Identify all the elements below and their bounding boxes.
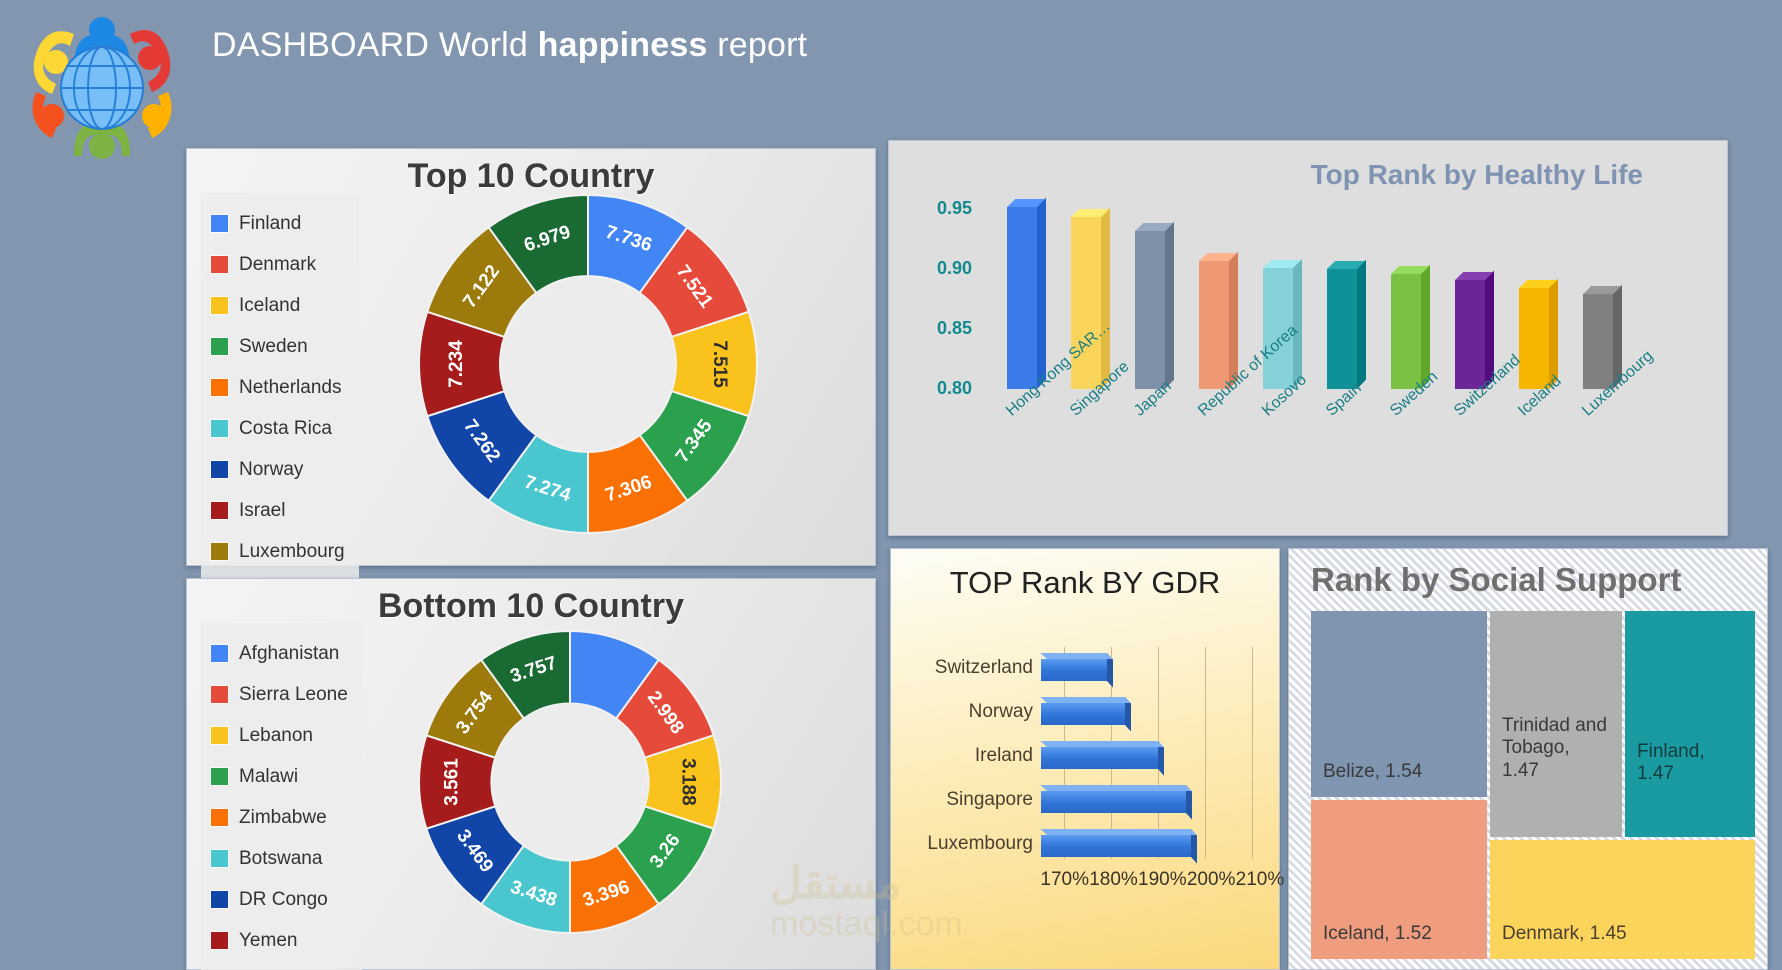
treemap-tile-label: Trinidad and Tobago, 1.47 — [1502, 715, 1610, 782]
donut-slice-label: 3.561 — [442, 758, 463, 806]
gdr-category-label: Norway — [969, 701, 1033, 723]
gdr-panel: TOP Rank BY GDR 170%180%190%200%210%Swit… — [890, 548, 1280, 970]
legend-swatch-icon — [211, 502, 228, 519]
legend-label: Sierra Leone — [239, 684, 348, 706]
legend-item[interactable]: Luxembourg — [211, 531, 345, 572]
legend-item[interactable]: Yemen — [211, 920, 348, 961]
gdr-category-label: Luxembourg — [927, 833, 1033, 855]
legend-item[interactable]: Israel — [211, 490, 345, 531]
bar-face — [1519, 288, 1549, 389]
legend-label: Norway — [239, 459, 303, 481]
social-support-title: Rank by Social Support — [1311, 561, 1681, 599]
healthy-bar[interactable] — [1583, 294, 1613, 389]
legend-label: Afghanistan — [239, 643, 339, 665]
treemap-tile[interactable]: Iceland, 1.52 — [1311, 800, 1487, 959]
bar-side-facet — [1037, 197, 1046, 389]
legend-swatch-icon — [211, 379, 228, 396]
bottom10-title: Bottom 10 Country — [187, 587, 875, 626]
bottom10-country-panel: Bottom 10 Country AfghanistanSierra Leon… — [186, 578, 876, 970]
legend-swatch-icon — [211, 891, 228, 908]
legend-swatch-icon — [211, 727, 228, 744]
dashboard-canvas: DASHBOARD World happiness report Top 10 … — [0, 0, 1782, 970]
legend-label: Israel — [239, 500, 285, 522]
gdr-category-label: Switzerland — [935, 657, 1033, 679]
legend-item[interactable]: Norway — [211, 449, 345, 490]
bar-face — [1199, 261, 1229, 389]
legend-swatch-icon — [211, 932, 228, 949]
legend-label: Sweden — [239, 336, 308, 358]
gdr-gridline — [1205, 647, 1206, 859]
bar-top-facet — [1040, 697, 1131, 703]
top10-legend: FinlandDenmarkIcelandSwedenNetherlandsCo… — [201, 193, 359, 582]
legend-item[interactable]: Finland — [211, 203, 345, 244]
bar-face — [1041, 703, 1125, 725]
gdr-bar[interactable] — [1041, 785, 1186, 813]
legend-label: Netherlands — [239, 377, 341, 399]
healthy-life-title: Top Rank by Healthy Life — [1311, 159, 1643, 191]
healthy-bar[interactable] — [1455, 280, 1485, 389]
bar-top-facet — [1040, 829, 1196, 835]
legend-swatch-icon — [211, 768, 228, 785]
legend-label: Lebanon — [239, 725, 313, 747]
legend-swatch-icon — [211, 256, 228, 273]
gdr-x-axis-label: 170% — [1040, 869, 1089, 891]
y-axis-tick-label: 0.80 — [937, 378, 972, 399]
bar-face — [1041, 747, 1158, 769]
gdr-bar[interactable] — [1041, 829, 1191, 857]
top10-donut-chart[interactable]: 7.7367.5217.5157.3457.3067.2747.2627.234… — [419, 195, 757, 533]
y-axis-tick-label: 0.90 — [937, 258, 972, 279]
bar-face — [1391, 274, 1421, 389]
bar-face — [1041, 791, 1186, 813]
treemap-tile-label: Denmark, 1.45 — [1502, 923, 1627, 945]
bar-top-facet — [1040, 785, 1192, 791]
legend-swatch-icon — [211, 338, 228, 355]
gdr-x-axis-label: 210% — [1236, 869, 1285, 891]
healthy-bar[interactable] — [1135, 231, 1165, 389]
legend-item[interactable]: DR Congo — [211, 879, 348, 920]
legend-item[interactable]: Netherlands — [211, 367, 345, 408]
legend-label: Finland — [239, 213, 301, 235]
legend-swatch-icon — [211, 645, 228, 662]
social-support-treemap[interactable]: Belize, 1.54Iceland, 1.52Trinidad and To… — [1311, 611, 1755, 959]
treemap-tile[interactable]: Trinidad and Tobago, 1.47 — [1490, 611, 1622, 837]
donut-slice-label: 7.515 — [709, 340, 730, 388]
healthy-life-panel: Top Rank by Healthy Life 0.950.900.850.8… — [888, 140, 1728, 536]
treemap-tile[interactable]: Finland, 1.47 — [1625, 611, 1755, 837]
donut-hub — [492, 704, 647, 859]
legend-item[interactable]: Denmark — [211, 244, 345, 285]
donut-slice-label: 3.188 — [677, 758, 698, 806]
healthy-bar[interactable] — [1327, 269, 1357, 389]
legend-label: Luxembourg — [239, 541, 345, 563]
page-title: DASHBOARD World happiness report — [212, 26, 807, 65]
bar-face — [1135, 231, 1165, 389]
healthy-bar[interactable] — [1007, 207, 1037, 389]
bottom10-donut-chart[interactable]: 2.9983.1883.263.3963.4383.4693.5613.7543… — [419, 631, 721, 933]
treemap-tile-label: Belize, 1.54 — [1323, 761, 1422, 783]
healthy-bar[interactable] — [1391, 274, 1421, 389]
legend-label: Yemen — [239, 930, 297, 952]
bar-side-facet — [1357, 260, 1366, 389]
treemap-tile-label: Iceland, 1.52 — [1323, 923, 1432, 945]
legend-item[interactable]: Zimbabwe — [211, 797, 348, 838]
bar-face — [1327, 269, 1357, 389]
legend-item[interactable]: Botswana — [211, 838, 348, 879]
legend-item[interactable]: Afghanistan — [211, 633, 348, 674]
gdr-category-label: Ireland — [975, 745, 1033, 767]
bar-side-facet — [1101, 208, 1110, 389]
gdr-category-label: Singapore — [946, 789, 1033, 811]
legend-label: Costa Rica — [239, 418, 332, 440]
gdr-bar[interactable] — [1041, 741, 1158, 769]
bar-top-facet — [1040, 653, 1112, 659]
donut-hub — [501, 277, 675, 451]
world-happiness-globe-logo — [22, 6, 182, 166]
legend-label: Botswana — [239, 848, 322, 870]
bar-face — [1455, 280, 1485, 389]
treemap-tile[interactable]: Belize, 1.54 — [1311, 611, 1487, 797]
y-axis-tick-label: 0.85 — [937, 318, 972, 339]
legend-item[interactable]: Costa Rica — [211, 408, 345, 449]
legend-swatch-icon — [211, 543, 228, 560]
y-axis-tick-label: 0.95 — [937, 198, 972, 219]
legend-item[interactable]: Lebanon — [211, 715, 348, 756]
legend-label: Iceland — [239, 295, 300, 317]
gdr-gridline — [1252, 647, 1253, 859]
page-title-part1: DASHBOARD World — [212, 26, 538, 64]
healthy-bar[interactable] — [1199, 261, 1229, 389]
legend-swatch-icon — [211, 215, 228, 232]
bar-side-facet — [1165, 221, 1174, 389]
donut-slice-label: 7.234 — [446, 340, 467, 388]
bar-side-facet — [1293, 258, 1302, 389]
gdr-bar[interactable] — [1041, 697, 1125, 725]
legend-item[interactable]: Iceland — [211, 285, 345, 326]
gdr-x-axis-label: 180% — [1089, 869, 1138, 891]
legend-swatch-icon — [211, 850, 228, 867]
social-support-panel: Rank by Social Support Belize, 1.54Icela… — [1288, 548, 1768, 970]
treemap-tile[interactable]: Denmark, 1.45 — [1490, 840, 1755, 959]
page-title-keyword: happiness — [538, 26, 708, 64]
legend-label: DR Congo — [239, 889, 328, 911]
bar-face — [1007, 207, 1037, 389]
legend-swatch-icon — [211, 809, 228, 826]
bar-face — [1041, 835, 1191, 857]
gdr-x-axis-label: 200% — [1187, 869, 1236, 891]
top10-country-panel: Top 10 Country FinlandDenmarkIcelandSwed… — [186, 148, 876, 566]
top10-title: Top 10 Country — [187, 157, 875, 196]
legend-label: Denmark — [239, 254, 316, 276]
legend-swatch-icon — [211, 461, 228, 478]
legend-swatch-icon — [211, 420, 228, 437]
legend-label: Malawi — [239, 766, 298, 788]
bar-top-facet — [1040, 741, 1164, 747]
legend-item[interactable]: Sierra Leone — [211, 674, 348, 715]
healthy-bar[interactable] — [1519, 288, 1549, 389]
gdr-x-axis-label: 190% — [1138, 869, 1187, 891]
legend-swatch-icon — [211, 686, 228, 703]
bar-face — [1583, 294, 1613, 389]
gdr-plot-area: 170%180%190%200%210%SwitzerlandNorwayIre… — [891, 549, 1279, 969]
page-title-part2: report — [708, 26, 808, 64]
bar-face — [1041, 659, 1107, 681]
legend-label: Zimbabwe — [239, 807, 327, 829]
legend-swatch-icon — [211, 297, 228, 314]
treemap-tile-label: Finland, 1.47 — [1637, 741, 1743, 786]
gdr-bar[interactable] — [1041, 653, 1107, 681]
bottom10-legend: AfghanistanSierra LeoneLebanonMalawiZimb… — [201, 623, 362, 970]
legend-item[interactable]: Malawi — [211, 756, 348, 797]
legend-item[interactable]: Sweden — [211, 326, 345, 367]
